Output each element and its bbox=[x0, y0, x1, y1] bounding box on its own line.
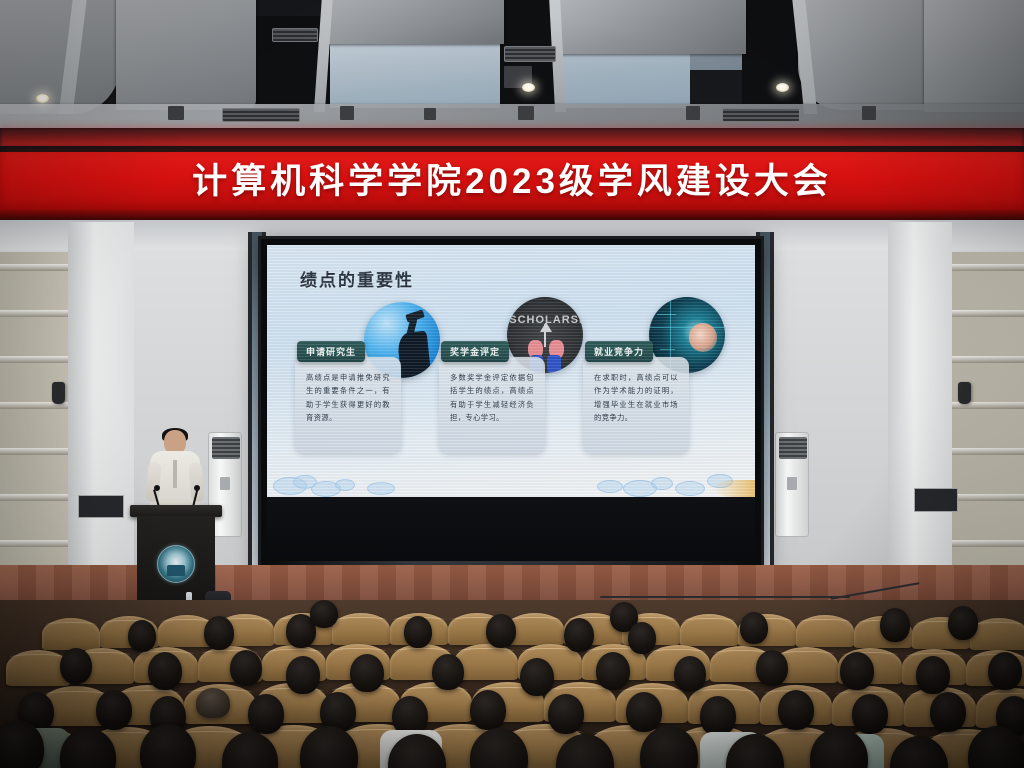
audience-member bbox=[350, 654, 384, 692]
audience-member bbox=[204, 616, 234, 650]
left-wall-recess bbox=[78, 495, 124, 518]
audience-member bbox=[230, 650, 262, 686]
audience-member bbox=[404, 616, 432, 648]
audience-member bbox=[916, 656, 950, 694]
audience-member bbox=[930, 692, 966, 732]
audience-member bbox=[128, 620, 156, 652]
wall-speaker-left bbox=[52, 382, 65, 404]
audience-member bbox=[700, 696, 736, 736]
slide-title: 绩点的重要性 bbox=[300, 266, 414, 291]
audience-member bbox=[778, 690, 814, 730]
chinese-cloud-decoration bbox=[267, 457, 755, 497]
banner-title: 计算机科学学院2023级学风建设大会 bbox=[192, 164, 832, 199]
card-tag: 奖学金评定 bbox=[441, 341, 509, 362]
slide-card: 在求职时，高绩点可以作为学术能力的证明，增强毕业生在就业市场的竞争力。 bbox=[583, 357, 689, 453]
audience-member bbox=[948, 606, 978, 640]
seat bbox=[332, 613, 390, 645]
audience-member bbox=[310, 600, 338, 628]
seat bbox=[680, 614, 738, 646]
audience-member bbox=[470, 690, 506, 730]
audience-member bbox=[486, 614, 516, 648]
seat bbox=[796, 615, 854, 647]
card-body-text: 在求职时，高绩点可以作为学术能力的证明，增强毕业生在就业市场的竞争力。 bbox=[594, 371, 678, 425]
audience-member bbox=[626, 692, 662, 732]
lecture-hall-photo: 计算机科学学院2023级学风建设大会 绩点的重要性 bbox=[0, 0, 1024, 768]
audience-member bbox=[248, 694, 284, 734]
audience-member bbox=[60, 648, 92, 684]
right-air-conditioner bbox=[775, 432, 809, 537]
right-acoustic-slat-panel bbox=[940, 252, 1024, 582]
audience-member bbox=[96, 690, 132, 730]
audience-member bbox=[286, 656, 320, 694]
audience-member bbox=[740, 612, 768, 644]
audience-member bbox=[596, 652, 630, 690]
audience-member bbox=[628, 622, 656, 654]
presentation-slide: 绩点的重要性 SCHOLARSHI 高绩点是申请 bbox=[267, 245, 755, 497]
ceiling-downlight bbox=[36, 94, 49, 103]
slide-card: 多数奖学金评定依据包括学生的绩点，高绩点有助于学生减轻经济负担，专心学习。 bbox=[439, 357, 545, 453]
ceiling-downlight bbox=[776, 83, 789, 92]
lectern bbox=[130, 505, 222, 600]
stage-cable bbox=[600, 596, 850, 598]
audience-member-cap bbox=[196, 688, 230, 718]
audience-member bbox=[432, 654, 464, 690]
card-body-text: 多数奖学金评定依据包括学生的绩点，高绩点有助于学生减轻经济负担，专心学习。 bbox=[450, 371, 534, 425]
screen-letterbox-area bbox=[267, 497, 755, 569]
card-tag: 申请研究生 bbox=[297, 341, 365, 362]
left-pillar bbox=[68, 222, 134, 590]
audience-member bbox=[988, 652, 1022, 690]
projection-screen: 绩点的重要性 SCHOLARSHI 高绩点是申请 bbox=[258, 236, 764, 578]
audience-member bbox=[148, 652, 182, 690]
wall-speaker-right bbox=[958, 382, 971, 404]
event-banner: 计算机科学学院2023级学风建设大会 bbox=[0, 152, 1024, 210]
university-emblem bbox=[157, 545, 195, 583]
audience-seating bbox=[0, 600, 1024, 768]
audience-member bbox=[756, 650, 788, 686]
audience-member bbox=[564, 618, 594, 652]
seat bbox=[970, 618, 1024, 650]
right-pillar bbox=[888, 222, 952, 590]
audience-member bbox=[674, 656, 706, 692]
card-body-text: 高绩点是申请推免研究生的重要条件之一，有助于学生获得更好的教育资源。 bbox=[306, 371, 390, 425]
ceiling bbox=[0, 0, 1024, 148]
card-tag: 就业竞争力 bbox=[585, 341, 653, 362]
ceiling-downlight bbox=[522, 83, 535, 92]
audience-member bbox=[840, 652, 874, 690]
audience-member bbox=[852, 694, 888, 734]
audience-member bbox=[548, 694, 584, 734]
slide-card: 高绩点是申请推免研究生的重要条件之一，有助于学生获得更好的教育资源。 bbox=[295, 357, 401, 453]
right-wall-recess bbox=[914, 488, 958, 512]
audience-member bbox=[520, 658, 554, 696]
audience-member bbox=[880, 608, 910, 642]
seat bbox=[42, 618, 100, 650]
